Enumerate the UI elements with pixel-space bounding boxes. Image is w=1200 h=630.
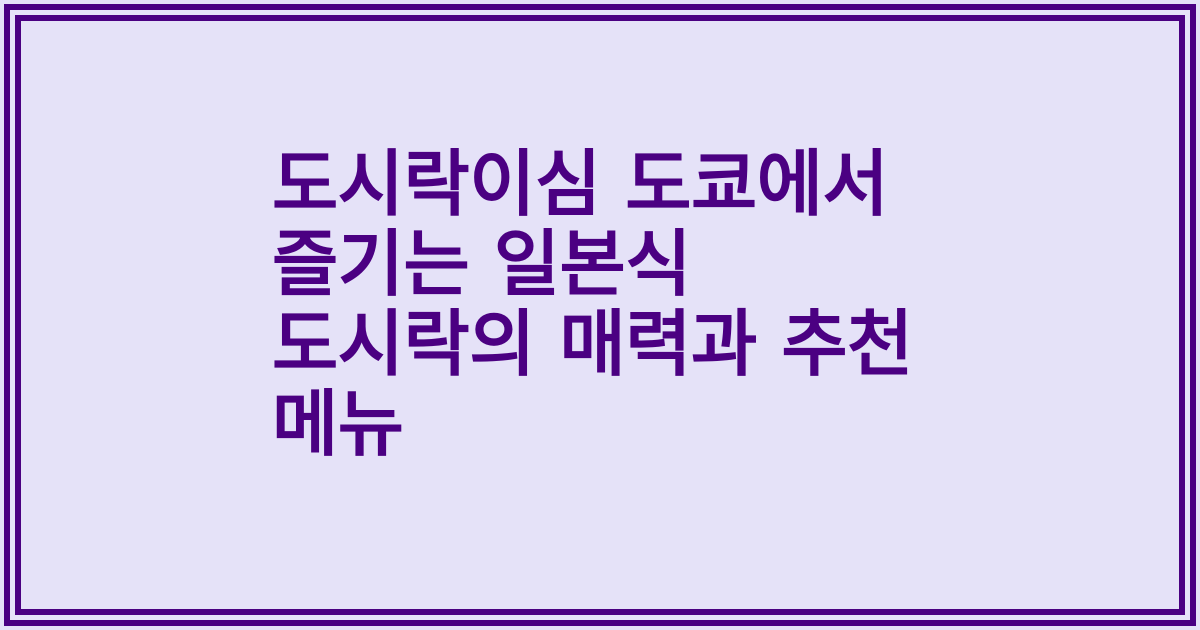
share-card: 도시락이심 도쿄에서 즐기는 일본식 도시락의 매력과 추천 메뉴 — [0, 0, 1200, 630]
page-title: 도시락이심 도쿄에서 즐기는 일본식 도시락의 매력과 추천 메뉴 — [272, 144, 972, 464]
content-plate: 도시락이심 도쿄에서 즐기는 일본식 도시락의 매력과 추천 메뉴 — [21, 21, 1179, 609]
